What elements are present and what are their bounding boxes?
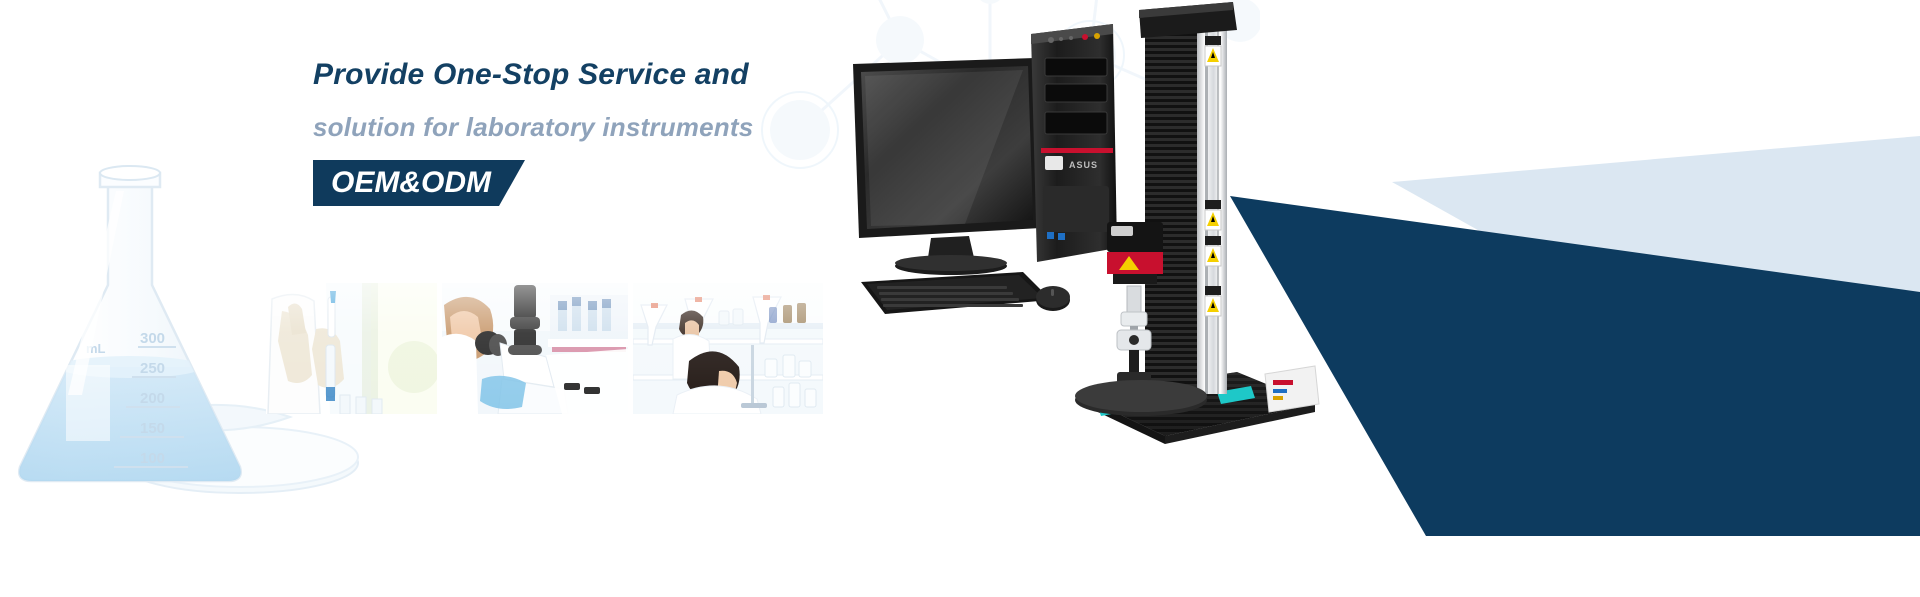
keyboard [861, 272, 1051, 314]
svg-text:150: 150 [140, 420, 165, 437]
mouse [1036, 286, 1070, 311]
svg-text:100: 100 [140, 450, 165, 467]
crosshead [1107, 222, 1163, 284]
svg-text:ASUS: ASUS [1069, 160, 1098, 170]
oem-odm-badge: OEM&ODM [313, 160, 525, 206]
svg-text:200: 200 [140, 390, 165, 407]
desktop-monitor [853, 58, 1041, 275]
photo-pipetting [266, 283, 437, 414]
hero-banner: 300 250 200 150 100 mL Provide One-Stop … [0, 0, 1920, 597]
photo-laboratory [633, 283, 823, 414]
photo-strip [266, 283, 823, 414]
svg-text:300: 300 [140, 330, 165, 347]
svg-text:250: 250 [140, 360, 165, 377]
photo-microscope [442, 283, 628, 414]
computer-tower: ASUS [1031, 24, 1117, 262]
